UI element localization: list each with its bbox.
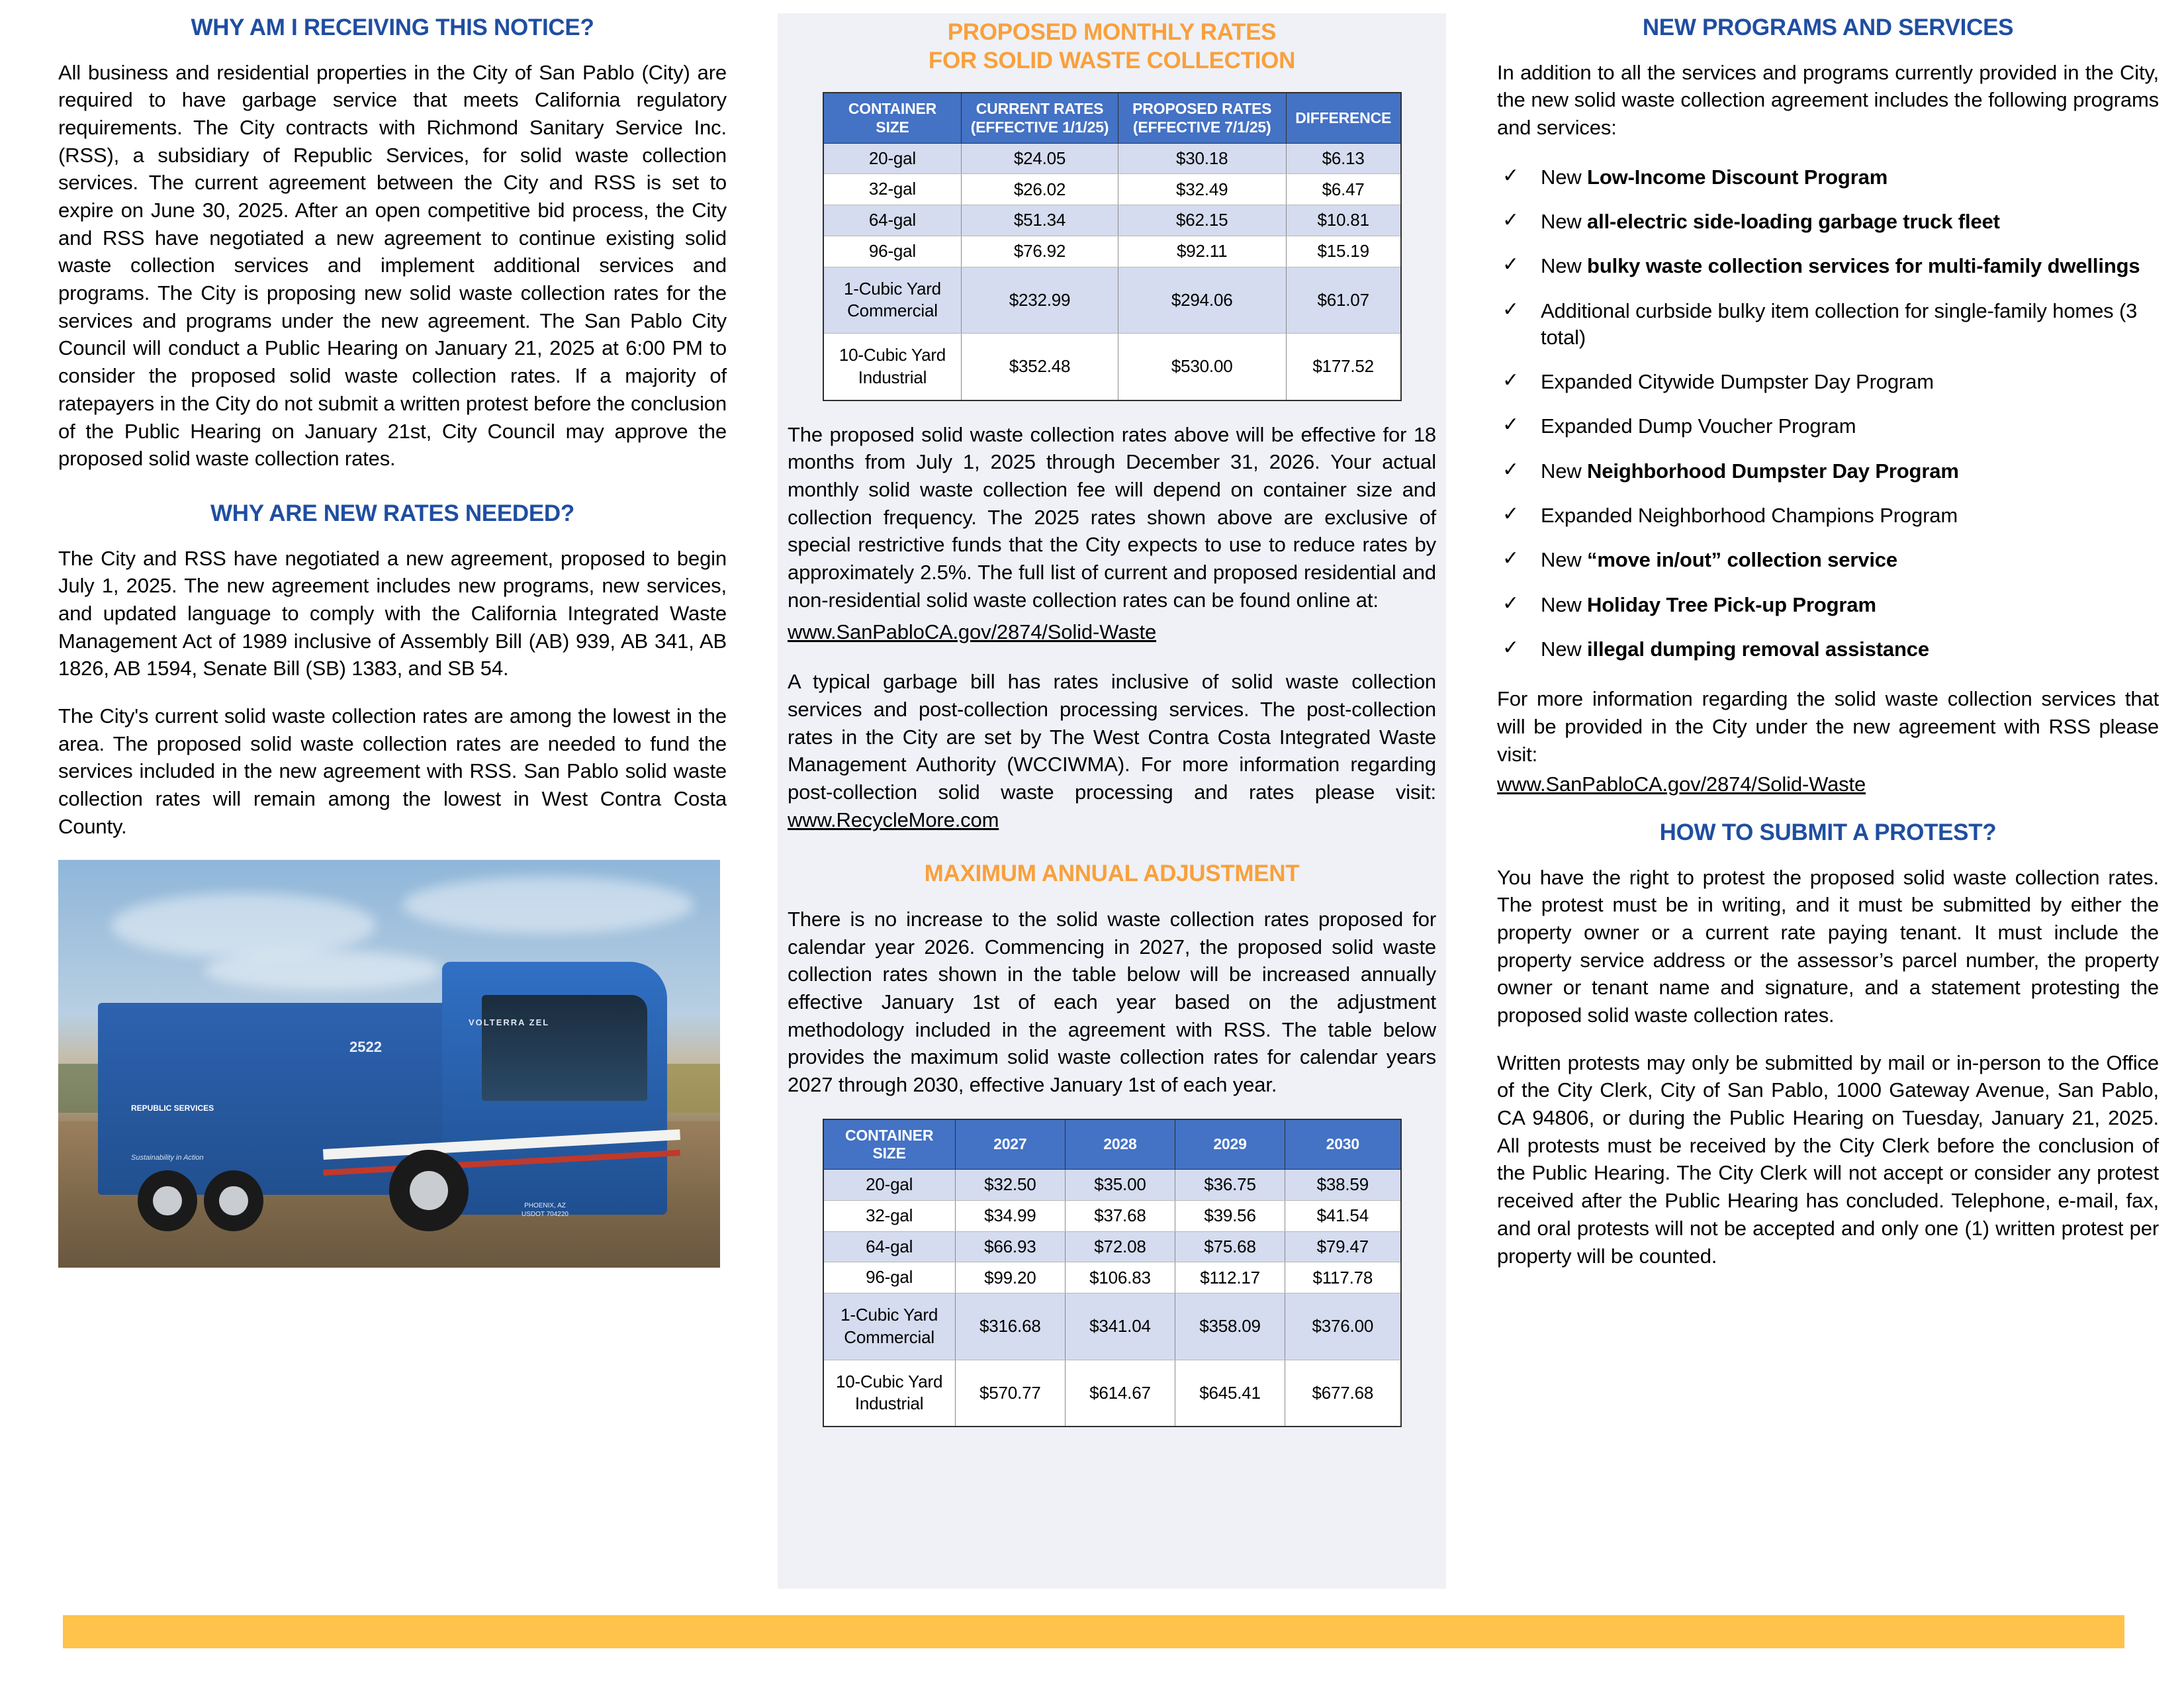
list-item: ✓New bulky waste collection services for…: [1497, 253, 2159, 279]
check-icon: ✓: [1502, 457, 1519, 483]
protest-paragraph-2: Written protests may only be submitted b…: [1497, 1049, 2159, 1270]
proposed-rates-heading-line1: PROPOSED MONTHLY RATES: [948, 19, 1276, 45]
maximum-annual-adjustment-heading: MAXIMUM ANNUAL ADJUSTMENT: [788, 860, 1436, 888]
table-row: 96-gal $99.20 $106.83 $112.17 $117.78: [823, 1262, 1401, 1293]
list-item: ✓New “move in/out” collection service: [1497, 547, 2159, 573]
why-new-rates-paragraph-2: The City's current solid waste collectio…: [58, 702, 727, 840]
table-row: 20-gal $24.05 $30.18 $6.13: [823, 143, 1401, 174]
th-2027: 2027: [955, 1119, 1065, 1170]
table-header-row: CONTAINER SIZE CURRENT RATES (EFFECTIVE …: [823, 93, 1401, 143]
table-row: 96-gal $76.92 $92.11 $15.19: [823, 236, 1401, 267]
th-current-rates: CURRENT RATES (EFFECTIVE 1/1/25): [962, 93, 1118, 143]
maximum-annual-adjustment-table: CONTAINER SIZE 2027 2028 2029 2030 20-ga…: [823, 1119, 1402, 1427]
check-icon: ✓: [1502, 545, 1519, 571]
list-item: ✓Additional curbside bulky item collecti…: [1497, 298, 2159, 352]
middle-column: PROPOSED MONTHLY RATES FOR SOLID WASTE C…: [788, 19, 1436, 1447]
check-icon: ✓: [1502, 163, 1519, 189]
row-label-1cy: 1-Cubic Yard Commercial: [823, 1293, 956, 1360]
check-icon: ✓: [1502, 297, 1519, 322]
new-programs-checklist: ✓New Low-Income Discount Program ✓New al…: [1497, 164, 2159, 663]
row-label-10cy: 10-Cubic Yard Industrial: [823, 334, 962, 400]
solid-waste-link-2: www.SanPabloCA.gov/2874/Solid-Waste: [1497, 771, 2159, 798]
list-item: ✓New illegal dumping removal assistance: [1497, 636, 2159, 663]
table-row: 64-gal $51.34 $62.15 $10.81: [823, 205, 1401, 236]
list-item: ✓New Holiday Tree Pick-up Program: [1497, 592, 2159, 618]
list-item: ✓Expanded Dump Voucher Program: [1497, 413, 2159, 440]
table-row: 10-Cubic Yard Industrial $352.48 $530.00…: [823, 334, 1401, 400]
truck-tagline: Sustainability in Action: [131, 1154, 204, 1162]
list-item: ✓Expanded Citywide Dumpster Day Program: [1497, 369, 2159, 395]
table-row: 20-gal $32.50 $35.00 $36.75 $38.59: [823, 1170, 1401, 1201]
typical-bill-paragraph: A typical garbage bill has rates inclusi…: [788, 668, 1436, 833]
list-item: ✓Expanded Neighborhood Champions Program: [1497, 502, 2159, 529]
row-label-1cy: 1-Cubic Yard Commercial: [823, 267, 962, 334]
section-heading-new-programs: NEW PROGRAMS AND SERVICES: [1497, 15, 2159, 42]
list-item: ✓New all-electric side-loading garbage t…: [1497, 209, 2159, 235]
section-heading-why-new-rates: WHY ARE NEW RATES NEEDED?: [58, 500, 727, 528]
recyclemore-link[interactable]: www.RecycleMore.com: [788, 808, 999, 831]
truck-usdot-label: PHOENIX, AZ USDOT 704220: [522, 1202, 569, 1219]
proposed-rates-table: CONTAINER SIZE CURRENT RATES (EFFECTIVE …: [823, 92, 1402, 400]
th-2029: 2029: [1175, 1119, 1285, 1170]
notice-page: WHY AM I RECEIVING THIS NOTICE? All busi…: [0, 0, 2184, 1688]
check-icon: ✓: [1502, 501, 1519, 527]
table-row: 32-gal $34.99 $37.68 $39.56 $41.54: [823, 1200, 1401, 1231]
truck-city-label: PHOENIX, AZ: [524, 1202, 566, 1209]
th-difference: DIFFERENCE: [1286, 93, 1400, 143]
why-new-rates-paragraph-1: The City and RSS have negotiated a new a…: [58, 545, 727, 682]
why-notice-paragraph: All business and residential properties …: [58, 59, 727, 473]
republic-services-logo: REPUBLIC SERVICES: [131, 1104, 214, 1113]
table-row: 64-gal $66.93 $72.08 $75.68 $79.47: [823, 1231, 1401, 1262]
check-icon: ✓: [1502, 367, 1519, 393]
check-icon: ✓: [1502, 252, 1519, 277]
check-icon: ✓: [1502, 412, 1519, 438]
more-information-paragraph: For more information regarding the solid…: [1497, 685, 2159, 768]
th-container-size: CONTAINER SIZE: [823, 93, 962, 143]
table-header-row: CONTAINER SIZE 2027 2028 2029 2030: [823, 1119, 1401, 1170]
row-label-10cy: 10-Cubic Yard Industrial: [823, 1360, 956, 1427]
truck-brand-label: VOLTERRA ZEL: [469, 1017, 549, 1027]
th-2028: 2028: [1065, 1119, 1175, 1170]
section-heading-why-notice: WHY AM I RECEIVING THIS NOTICE?: [58, 15, 727, 42]
th-proposed-rates: PROPOSED RATES (EFFECTIVE 7/1/25): [1118, 93, 1286, 143]
solid-waste-link-1: www.SanPabloCA.gov/2874/Solid-Waste: [788, 618, 1436, 646]
proposed-rates-heading: PROPOSED MONTHLY RATES FOR SOLID WASTE C…: [788, 19, 1436, 75]
table-row: 10-Cubic Yard Industrial $570.77 $614.67…: [823, 1360, 1401, 1427]
check-icon: ✓: [1502, 207, 1519, 233]
truck-usdot-number: USDOT 704220: [522, 1211, 569, 1218]
th-2030: 2030: [1285, 1119, 1401, 1170]
list-item: ✓New Neighborhood Dumpster Day Program: [1497, 458, 2159, 485]
list-item: ✓New Low-Income Discount Program: [1497, 164, 2159, 191]
table-row: 1-Cubic Yard Commercial $316.68 $341.04 …: [823, 1293, 1401, 1360]
maximum-annual-adjustment-paragraph: There is no increase to the solid waste …: [788, 906, 1436, 1099]
protest-paragraph-1: You have the right to protest the propos…: [1497, 864, 2159, 1029]
th-container-size: CONTAINER SIZE: [823, 1119, 956, 1170]
left-column: WHY AM I RECEIVING THIS NOTICE? All busi…: [58, 15, 727, 1268]
garbage-truck-photo: 2522 VOLTERRA ZEL REPUBLIC SERVICES Sust…: [58, 860, 720, 1268]
section-heading-how-to-protest: HOW TO SUBMIT A PROTEST?: [1497, 820, 2159, 847]
proposed-rates-heading-line2: FOR SOLID WASTE COLLECTION: [929, 48, 1295, 73]
check-icon: ✓: [1502, 590, 1519, 616]
new-programs-intro: In addition to all the services and prog…: [1497, 59, 2159, 142]
truck-number-label: 2522: [349, 1039, 382, 1056]
check-icon: ✓: [1502, 635, 1519, 661]
right-column: NEW PROGRAMS AND SERVICES In addition to…: [1497, 15, 2159, 1270]
footer-accent-bar: [63, 1615, 2124, 1648]
table-row: 32-gal $26.02 $32.49 $6.47: [823, 174, 1401, 205]
table-row: 1-Cubic Yard Commercial $232.99 $294.06 …: [823, 267, 1401, 334]
proposed-rates-paragraph: The proposed solid waste collection rate…: [788, 421, 1436, 614]
